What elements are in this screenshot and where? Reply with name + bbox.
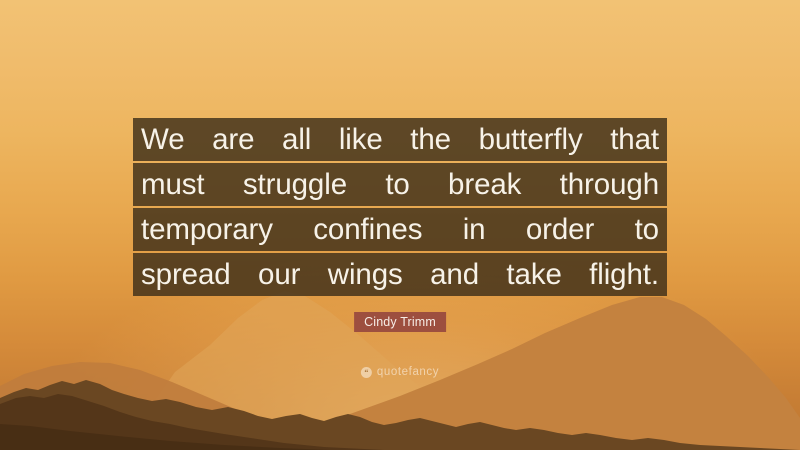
- watermark-brand-label: quotefancy: [377, 367, 439, 379]
- quote-poster: We are all like the butterfly that must …: [0, 0, 800, 450]
- quotefancy-watermark[interactable]: “ quotefancy: [361, 367, 439, 379]
- quote-mark-icon: “: [361, 367, 372, 378]
- quote-line: We are all like the butterfly that: [133, 118, 667, 161]
- quote-line-text: temporary confines in order to: [141, 208, 659, 251]
- quote-line: temporary confines in order to: [133, 208, 667, 251]
- quote-line: spread our wings and take flight.: [133, 253, 667, 296]
- author-badge[interactable]: Cindy Trimm: [354, 312, 446, 332]
- quote-line-text: spread our wings and take flight.: [141, 253, 659, 296]
- quote-text-block: We are all like the butterfly that must …: [133, 118, 667, 296]
- quote-line-text: must struggle to break through: [141, 163, 659, 206]
- quote-line: must struggle to break through: [133, 163, 667, 206]
- quote-line-text: We are all like the butterfly that: [141, 118, 659, 161]
